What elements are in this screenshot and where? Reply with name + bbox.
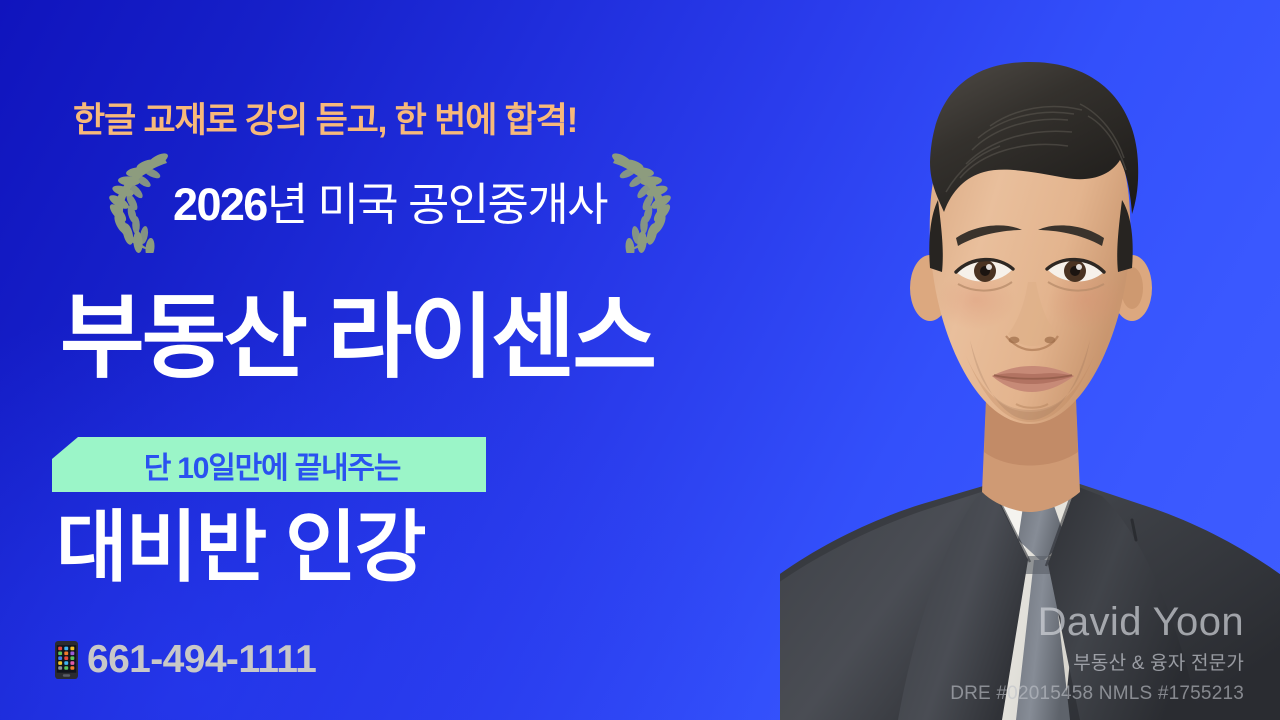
badge-label: 단 10일만에 끝내주는 bbox=[138, 443, 400, 487]
main-headline: 부동산 라이센스 bbox=[60, 292, 654, 384]
year-number: 2026 bbox=[173, 179, 267, 230]
mobile-phone-icon bbox=[55, 641, 78, 679]
phone-contact[interactable]: 661-494-1111 bbox=[55, 638, 316, 682]
kicker-text: 한글 교재로 강의 듣고, 한 번에 합격! bbox=[73, 92, 577, 143]
year-title-row: 2026년 미국 공인중개사 bbox=[60, 150, 720, 255]
year-title: 2026년 미국 공인중개사 bbox=[173, 168, 607, 237]
highlight-badge: 단 10일만에 끝내주는 bbox=[52, 437, 486, 492]
laurel-wreath-right-icon bbox=[603, 153, 675, 253]
promo-banner: 한글 교재로 강의 듣고, 한 번에 합격! bbox=[0, 0, 1280, 720]
sub-headline: 대비반 인강 bbox=[56, 508, 424, 586]
portrait-photo-businessman bbox=[780, 0, 1280, 720]
laurel-wreath-left-icon bbox=[105, 153, 177, 253]
text-column: 한글 교재로 강의 듣고, 한 번에 합격! bbox=[0, 0, 790, 720]
year-suffix: 년 미국 공인중개사 bbox=[267, 179, 607, 230]
phone-number[interactable]: 661-494-1111 bbox=[87, 638, 316, 682]
